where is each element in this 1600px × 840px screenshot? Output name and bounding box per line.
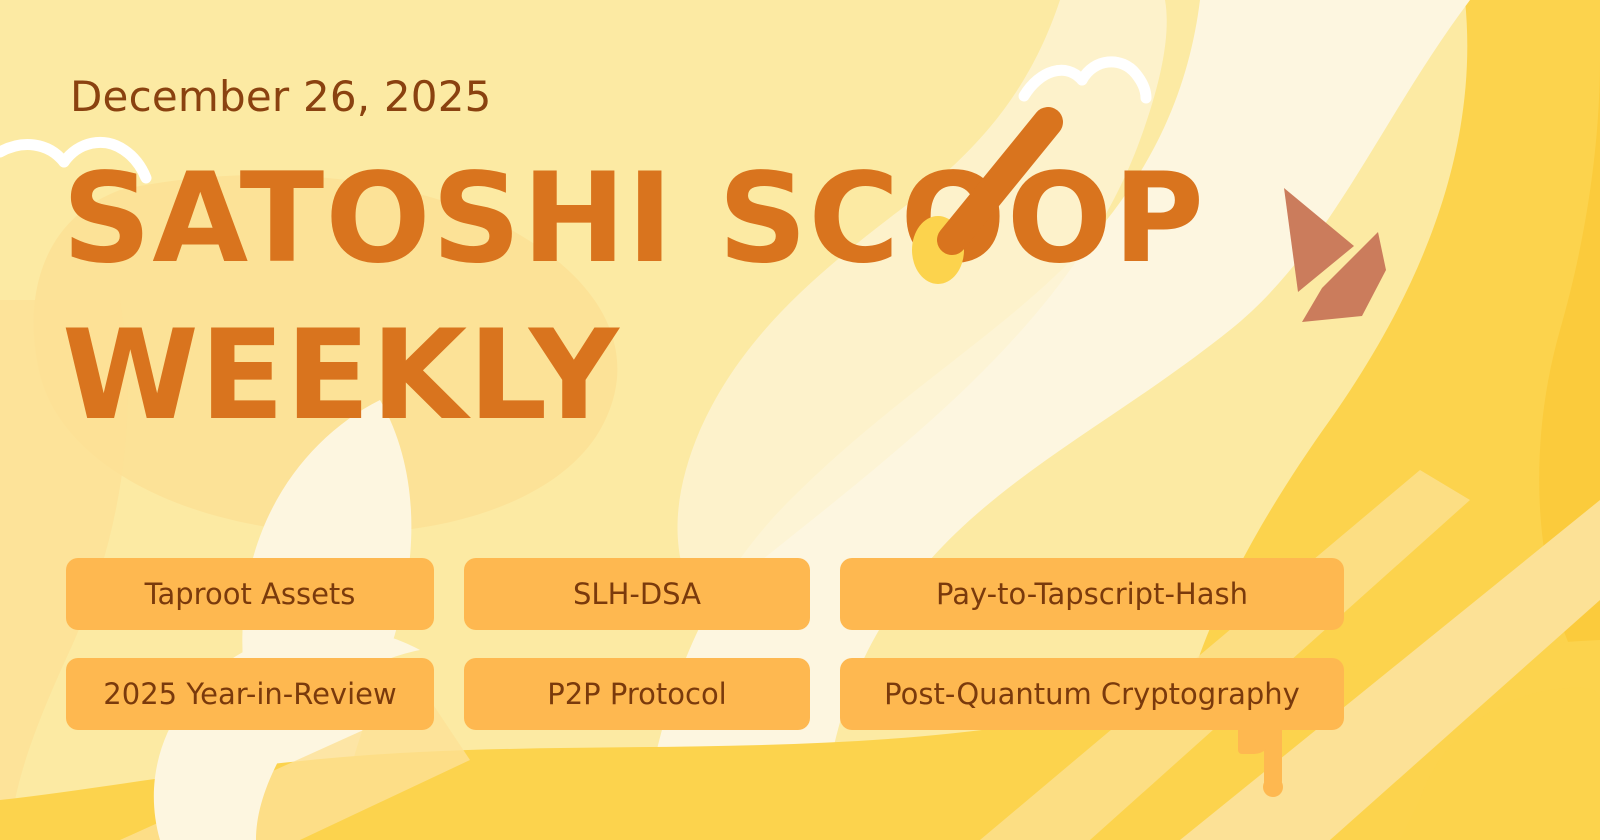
topic-chip-row: 2025 Year-in-Review P2P Protocol Post-Qu…	[66, 658, 1366, 730]
masthead-line-1: SATOSHI SCOOP	[62, 160, 1302, 279]
topic-chip-label: 2025 Year-in-Review	[103, 677, 396, 711]
topic-chip-label: Pay-to-Tapscript-Hash	[936, 577, 1248, 611]
masthead-line-2: WEEKLY	[62, 317, 1302, 436]
sailboat-icon	[1250, 170, 1420, 330]
topic-chip-pay-to-tapscript-hash[interactable]: Pay-to-Tapscript-Hash	[840, 558, 1344, 630]
topic-chip-p2p-protocol[interactable]: P2P Protocol	[464, 658, 810, 730]
issue-date: December 26, 2025	[70, 72, 492, 121]
topic-chip-2025-year-in-review[interactable]: 2025 Year-in-Review	[66, 658, 434, 730]
topic-chip-label: Post-Quantum Cryptography	[884, 677, 1300, 711]
topic-chip-label: P2P Protocol	[547, 677, 727, 711]
topic-chip-slh-dsa[interactable]: SLH-DSA	[464, 558, 810, 630]
topic-chip-row: Taproot Assets SLH-DSA Pay-to-Tapscript-…	[66, 558, 1366, 630]
drip-icon	[1264, 728, 1282, 790]
topic-chip-taproot-assets[interactable]: Taproot Assets	[66, 558, 434, 630]
topic-chip-label: SLH-DSA	[573, 577, 701, 611]
topic-chip-post-quantum-cryptography[interactable]: Post-Quantum Cryptography	[840, 658, 1344, 730]
topic-chip-label: Taproot Assets	[145, 577, 356, 611]
topic-chip-grid: Taproot Assets SLH-DSA Pay-to-Tapscript-…	[66, 558, 1366, 730]
newsletter-banner: December 26, 2025 SATOSHI SCOOP WEEKLY T…	[0, 0, 1600, 840]
masthead: SATOSHI SCOOP WEEKLY	[62, 160, 1302, 436]
